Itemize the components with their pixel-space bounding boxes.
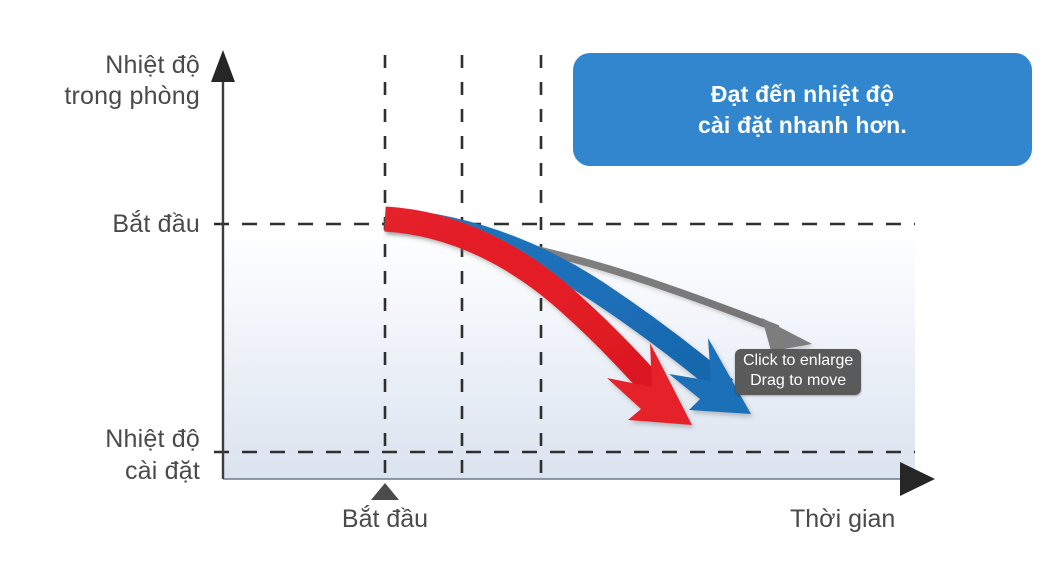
- y-tick-label-set-temperature: Nhiệt độ cài đặt: [10, 423, 200, 487]
- callout-banner: Đạt đến nhiệt độ cài đặt nhanh hơn.: [573, 53, 1032, 166]
- image-hover-tooltip: Click to enlarge Drag to move: [735, 349, 861, 395]
- x-tick-label-start: Bắt đầu: [300, 505, 470, 534]
- callout-text: Đạt đến nhiệt độ cài đặt nhanh hơn.: [698, 79, 907, 141]
- x-axis: [900, 462, 935, 496]
- x-axis-title: Thời gian: [790, 505, 960, 534]
- y-axis-title: Nhiệt độ trong phòng: [10, 50, 200, 112]
- x-axis-start-marker: [371, 483, 399, 500]
- diagram-canvas: Nhiệt độ trong phòng Bắt đầu Nhiệt độ cà…: [0, 0, 1053, 574]
- y-tick-label-start: Bắt đầu: [10, 209, 200, 240]
